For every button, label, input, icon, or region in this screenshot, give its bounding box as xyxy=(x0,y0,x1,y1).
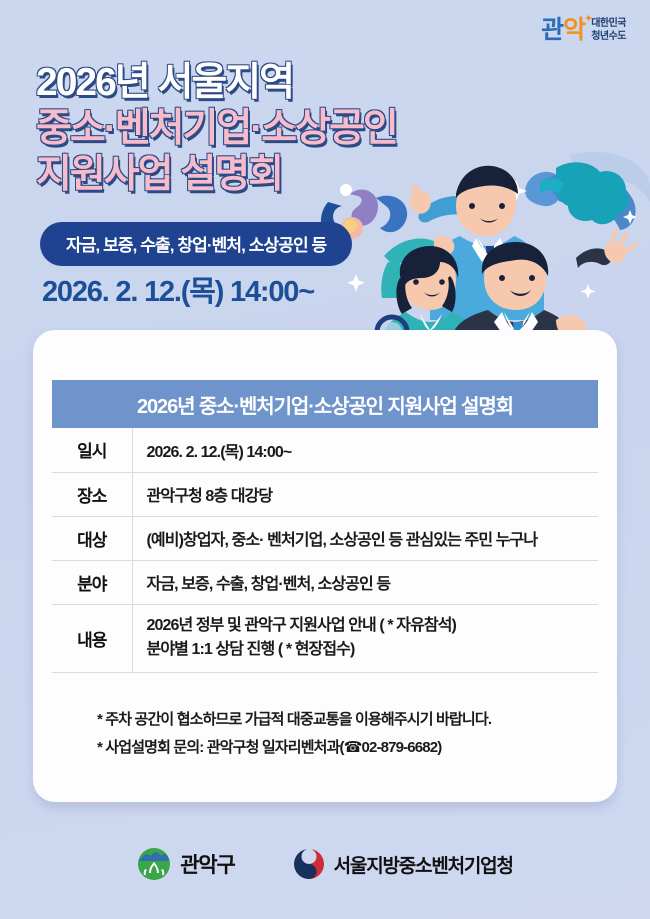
sparkle-icon: ✦ xyxy=(584,14,592,25)
info-card-title: 2026년 중소·벤처기업·소상공인 지원사업 설명회 xyxy=(137,390,513,419)
keyword-badge: 자금, 보증, 수출, 창업·벤처, 소상공인 등 xyxy=(40,222,352,266)
gwanak-mountain-icon xyxy=(137,847,171,881)
gwanak-gu-logo-group: 관악구 xyxy=(137,847,234,881)
row-label-field: 분야 xyxy=(52,560,132,604)
row-label-content: 내용 xyxy=(52,604,132,673)
event-info-card: 2026년 중소·벤처기업·소상공인 지원사업 설명회 일시 2026. 2. … xyxy=(33,330,617,802)
gwanak-brand-logo: 관악 ✦ 대한민국 청년수도 xyxy=(541,18,626,43)
sba-label: 서울지방중소벤처기업청 xyxy=(334,851,513,878)
headline-line-1: 2026년 서울지역 xyxy=(36,60,397,106)
gwanak-wordmark: 관악 ✦ xyxy=(541,18,585,43)
footnote-contact: * 사업설명회 문의: 관악구청 일자리벤처과(☎02-879-6682) xyxy=(97,734,491,762)
table-row: 일시 2026. 2. 12.(목) 14:00~ xyxy=(52,428,598,472)
gwanak-gu-label: 관악구 xyxy=(180,849,234,879)
taegeuk-icon xyxy=(293,848,325,880)
row-value-content-line2: 분야별 1:1 상담 진행 ( * 현장접수) xyxy=(147,638,599,663)
card-footnotes: * 주차 공간이 협소하므로 가급적 대중교통을 이용해주시기 바랍니다. * … xyxy=(97,706,491,762)
info-card-header: 2026년 중소·벤처기업·소상공인 지원사업 설명회 xyxy=(52,380,598,428)
row-value-venue: 관악구청 8층 대강당 xyxy=(132,472,598,516)
event-details-table: 일시 2026. 2. 12.(목) 14:00~ 장소 관악구청 8층 대강당… xyxy=(52,428,598,673)
row-value-content-line1: 2026년 정부 및 관악구 지원사업 안내 ( * 자유참석) xyxy=(147,614,599,639)
footnote-parking: * 주차 공간이 협소하므로 가급적 대중교통을 이용해주시기 바랍니다. xyxy=(97,706,491,734)
row-value-field: 자금, 보증, 수출, 창업·벤처, 소상공인 등 xyxy=(132,560,598,604)
sponsor-logos: 관악구 서울지방중소벤처기업청 xyxy=(0,847,650,881)
brand-tagline-line1: 대한민국 xyxy=(591,18,626,31)
brand-tagline: 대한민국 청년수도 xyxy=(591,18,626,43)
row-label-audience: 대상 xyxy=(52,516,132,560)
row-label-venue: 장소 xyxy=(52,472,132,516)
brand-tagline-line2: 청년수도 xyxy=(591,31,626,44)
gwanak-mark-second: 악 xyxy=(563,16,585,44)
table-row: 내용 2026년 정부 및 관악구 지원사업 안내 ( * 자유참석) 분야별 … xyxy=(52,604,598,673)
sba-logo-group: 서울지방중소벤처기업청 xyxy=(293,848,513,880)
row-value-datetime: 2026. 2. 12.(목) 14:00~ xyxy=(132,428,598,472)
row-value-content: 2026년 정부 및 관악구 지원사업 안내 ( * 자유참석) 분야별 1:1… xyxy=(132,604,598,673)
table-row: 대상 (예비)창업자, 중소· 벤처기업, 소상공인 등 관심있는 주민 누구나 xyxy=(52,516,598,560)
gwanak-mark-first: 관 xyxy=(541,16,563,44)
row-label-datetime: 일시 xyxy=(52,428,132,472)
headline-line-3: 지원사업 설명회 xyxy=(36,152,397,198)
poster-root: 관악 ✦ 대한민국 청년수도 xyxy=(0,0,650,919)
poster-headline: 2026년 서울지역 중소·벤처기업·소상공인 지원사업 설명회 xyxy=(36,60,397,198)
headline-line-2: 중소·벤처기업·소상공인 xyxy=(36,106,397,152)
row-value-audience: (예비)창업자, 중소· 벤처기업, 소상공인 등 관심있는 주민 누구나 xyxy=(132,516,598,560)
table-row: 분야 자금, 보증, 수출, 창업·벤처, 소상공인 등 xyxy=(52,560,598,604)
event-date-time: 2026. 2. 12.(목) 14:00~ xyxy=(42,268,314,310)
table-row: 장소 관악구청 8층 대강당 xyxy=(52,472,598,516)
